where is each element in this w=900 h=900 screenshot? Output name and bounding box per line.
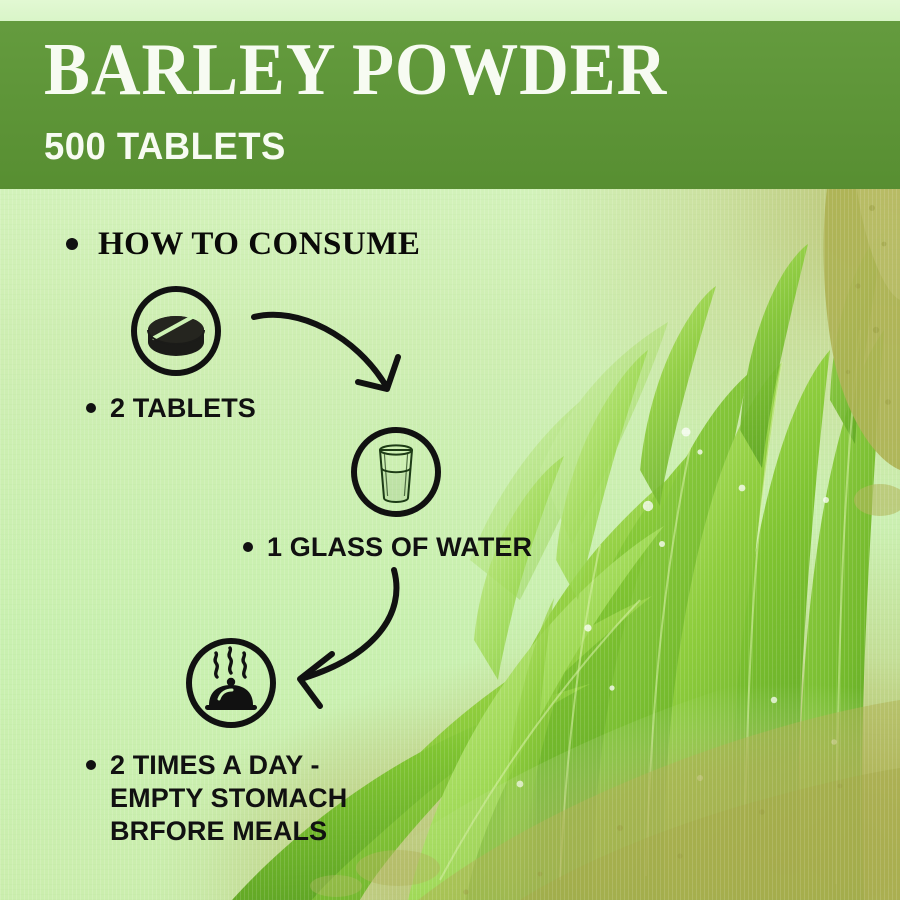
section-heading: HOW TO CONSUME (66, 227, 420, 261)
section-heading-label: HOW TO CONSUME (98, 227, 420, 261)
step-label-water: 1 GLASS OF WATER (243, 531, 532, 564)
step-label-tablets: 2 TABLETS (86, 392, 256, 425)
step-label-schedule-text: 2 TIMES A DAY - EMPTY STOMACH BRFORE MEA… (110, 749, 347, 848)
water-glass-icon (348, 424, 444, 525)
bullet-dot-icon (243, 542, 253, 552)
step-label-water-text: 1 GLASS OF WATER (267, 531, 532, 564)
step-label-schedule: 2 TIMES A DAY - EMPTY STOMACH BRFORE MEA… (86, 749, 347, 848)
page-subtitle: 500 TABLETS (44, 128, 286, 166)
meal-cloche-icon (183, 635, 279, 736)
bullet-dot-icon (86, 403, 96, 413)
tablet-pill-icon (128, 283, 224, 384)
bullet-dot-icon (66, 238, 78, 250)
poster-canvas: BARLEY POWDER 500 TABLETS HOW TO CONSUME… (0, 0, 900, 900)
page-title: BARLEY POWDER (44, 33, 667, 107)
top-strip (0, 0, 900, 21)
bullet-dot-icon (86, 760, 96, 770)
step-label-tablets-text: 2 TABLETS (110, 392, 256, 425)
